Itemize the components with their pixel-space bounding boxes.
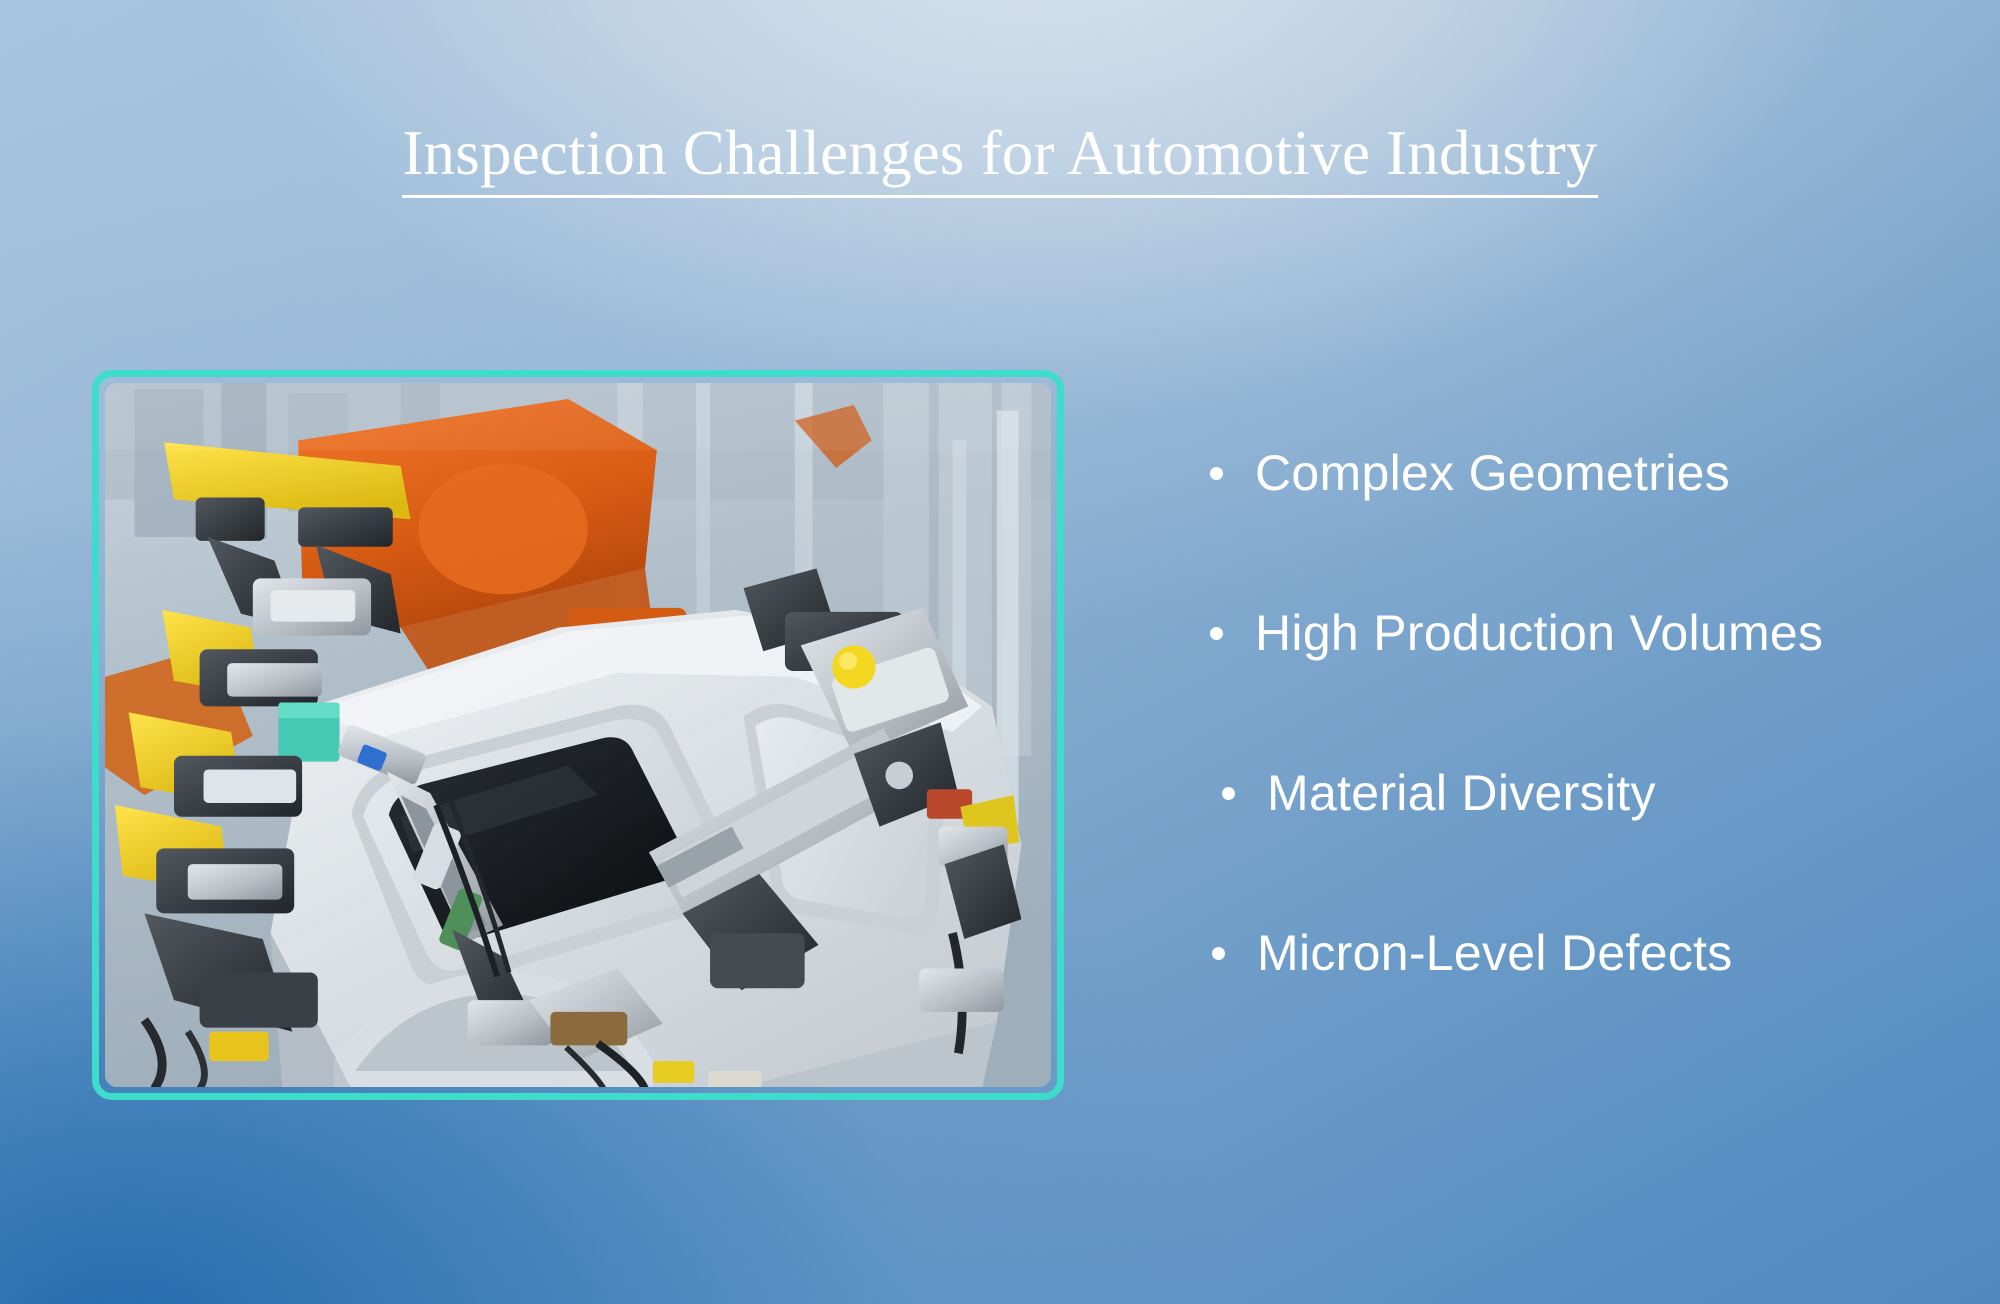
list-item: Material Diversity — [1210, 768, 1970, 928]
factory-robot-photo — [105, 383, 1051, 1087]
factory-robot-illustration — [105, 383, 1051, 1087]
page-title: Inspection Challenges for Automotive Ind… — [0, 118, 2000, 198]
list-item-label: Complex Geometries — [1255, 448, 1730, 498]
list-item: High Production Volumes — [1210, 608, 1970, 768]
bullet-dot-icon — [1210, 627, 1223, 640]
list-item-label: High Production Volumes — [1255, 608, 1823, 658]
list-item: Complex Geometries — [1210, 448, 1970, 608]
photo-frame — [92, 370, 1064, 1100]
page-title-text: Inspection Challenges for Automotive Ind… — [402, 118, 1597, 198]
list-item-label: Micron-Level Defects — [1257, 928, 1733, 978]
challenges-list: Complex Geometries High Production Volum… — [1210, 448, 1970, 1088]
bullet-dot-icon — [1210, 467, 1223, 480]
list-item-label: Material Diversity — [1267, 768, 1656, 818]
list-item: Micron-Level Defects — [1210, 928, 1970, 1088]
bullet-dot-icon — [1212, 947, 1225, 960]
bullet-dot-icon — [1222, 787, 1235, 800]
slide-canvas: Inspection Challenges for Automotive Ind… — [0, 0, 2000, 1304]
